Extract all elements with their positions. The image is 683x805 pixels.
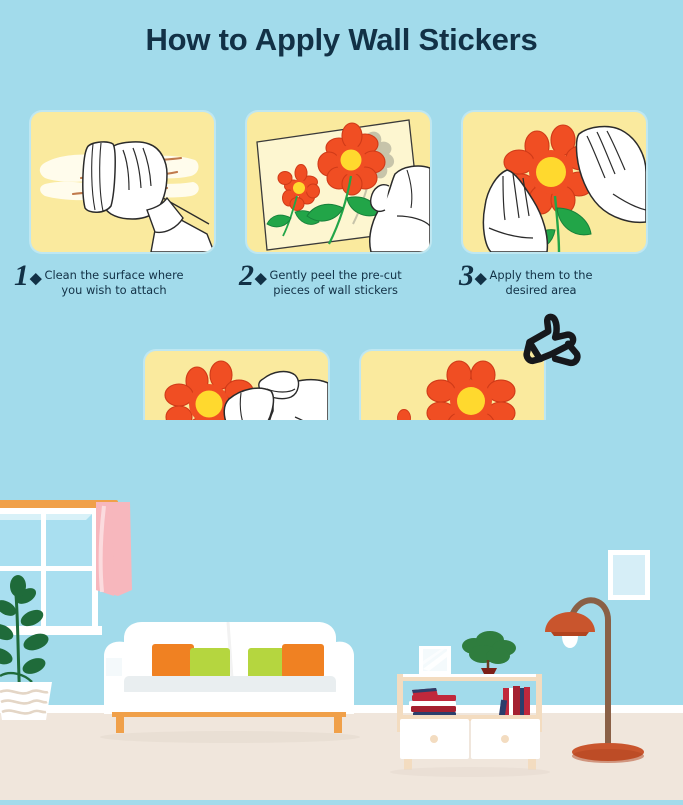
- peeling-sticker-sheet-icon: [247, 112, 430, 252]
- step-3-text: Apply them to the desired area: [490, 263, 593, 298]
- step-1-caption: 1◆ Clean the surface where you wish to a…: [14, 263, 229, 298]
- step-3-caption: 3◆ Apply them to the desired area: [459, 263, 659, 298]
- cushion-orange-left: [152, 644, 194, 678]
- step-3-number: 3◆: [459, 263, 490, 294]
- cushion-orange-right: [282, 644, 324, 678]
- cushion-green-left: [190, 648, 230, 680]
- hand-wiping-wall-icon: [31, 112, 214, 252]
- thumbs-up-icon: [516, 309, 588, 379]
- infographic-canvas: How to Apply Wall Stickers: [0, 0, 683, 800]
- step-2-number: 2◆: [239, 263, 270, 294]
- step-2-caption: 2◆ Gently peel the pre-cut pieces of wal…: [239, 263, 452, 298]
- step-3-illustration-panel: [463, 112, 646, 252]
- step-2-text: Gently peel the pre-cut pieces of wall s…: [270, 263, 402, 298]
- wall-picture: [608, 550, 650, 600]
- page-title: How to Apply Wall Stickers: [0, 22, 683, 58]
- step-1-number: 1◆: [14, 263, 45, 294]
- book-row-right: [499, 686, 530, 717]
- step-2-illustration-panel: [247, 112, 430, 252]
- room-scene: [0, 420, 683, 800]
- picture-frame-on-sideboard: [419, 646, 451, 674]
- step-1-text: Clean the surface where you wish to atta…: [45, 263, 184, 298]
- hands-applying-sticker-icon: [463, 112, 646, 252]
- cushion-green-right: [248, 648, 286, 680]
- step-1-illustration-panel: [31, 112, 214, 252]
